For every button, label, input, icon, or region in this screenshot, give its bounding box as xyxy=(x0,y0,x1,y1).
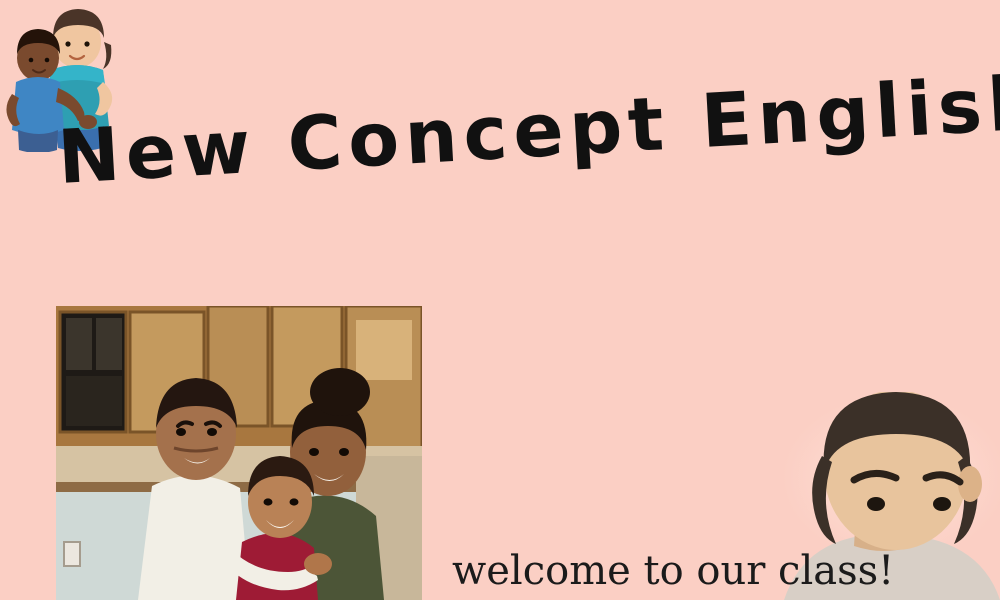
slide-caption: welcome to our class! xyxy=(452,548,894,594)
presentation-slide: New Concept English xyxy=(0,0,1000,600)
family-photo xyxy=(56,306,422,600)
page-title: New Concept English xyxy=(56,68,989,197)
